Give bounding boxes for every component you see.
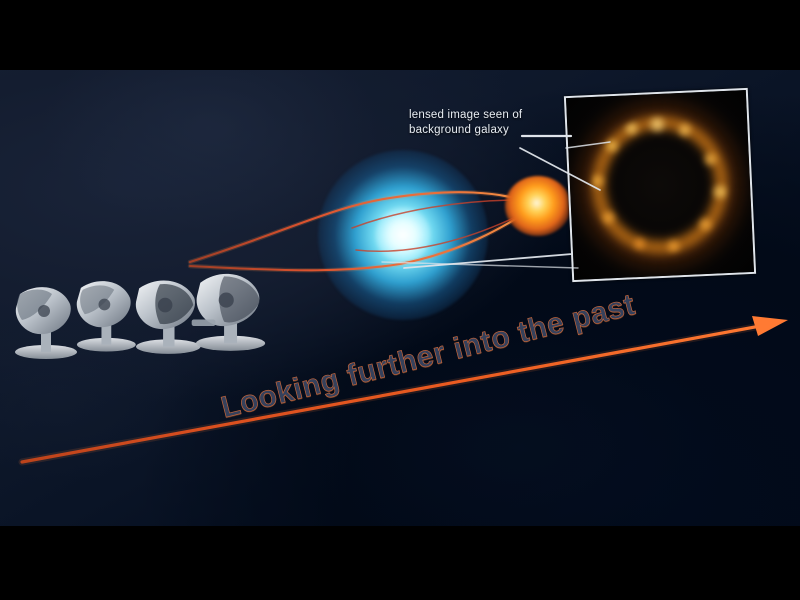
annotation-line-1: lensed image seen of xyxy=(409,108,522,123)
scene-canvas: Looking further into the past xyxy=(0,0,800,600)
letterbox-bar-top xyxy=(0,0,800,70)
leader-line-to-inset-top xyxy=(520,148,600,190)
letterbox-bar-bottom xyxy=(0,526,800,600)
annotation-line-2: background galaxy xyxy=(409,123,522,138)
leader-line-into-ring xyxy=(566,142,610,148)
callout-leader-lines xyxy=(0,0,800,600)
lensed-image-annotation: lensed image seen of background galaxy xyxy=(409,108,522,138)
